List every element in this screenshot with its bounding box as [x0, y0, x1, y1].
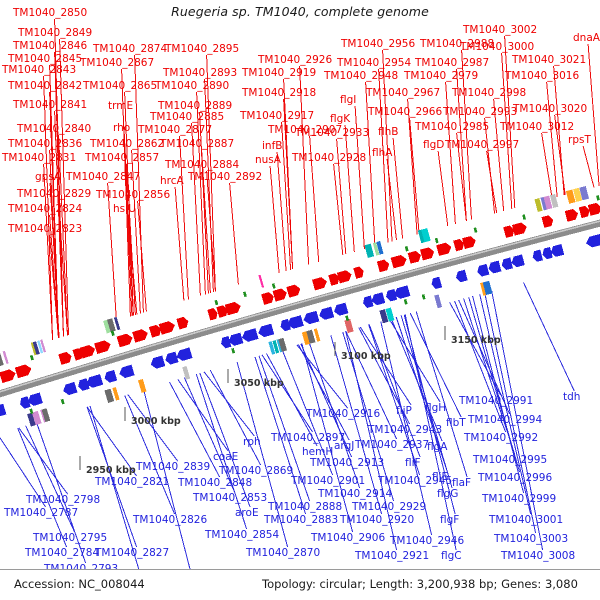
- reverse-gene-label[interactable]: TM1040_2921: [355, 551, 429, 562]
- forward-gene-label[interactable]: TM1040_2850: [13, 8, 87, 19]
- forward-gene-label[interactable]: TM1040_2933: [295, 128, 369, 139]
- forward-gene-label[interactable]: TM1040_2918: [242, 88, 316, 99]
- forward-gene-label[interactable]: TM1040_2917: [240, 111, 314, 122]
- reverse-gene-label[interactable]: TM1040_2795: [33, 533, 107, 544]
- reverse-gene-label[interactable]: aroE: [235, 508, 259, 519]
- forward-gene-label[interactable]: TM1040_2966: [368, 107, 442, 118]
- reverse-gene-label[interactable]: TM1040_2929: [352, 502, 426, 513]
- forward-gene-label[interactable]: TM1040_2847: [66, 172, 140, 183]
- reverse-gene-label[interactable]: TM1040_2994: [468, 415, 542, 426]
- scale-marker: 3150 kbp: [451, 336, 501, 347]
- forward-gene-label[interactable]: hsIU: [113, 204, 136, 215]
- reverse-gene-label[interactable]: TM1040_3008: [501, 551, 575, 562]
- forward-gene-label[interactable]: TM1040_2887: [160, 139, 234, 150]
- reverse-gene-label[interactable]: hemH: [302, 447, 333, 458]
- forward-gene-label[interactable]: TM1040_2967: [366, 88, 440, 99]
- reverse-gene-label[interactable]: flaF: [452, 478, 471, 489]
- forward-gene-label[interactable]: gpsA: [35, 172, 61, 183]
- forward-gene-label[interactable]: TM1040_2997: [445, 140, 519, 151]
- reverse-gene-label[interactable]: TM1040_2999: [482, 494, 556, 505]
- forward-gene-label[interactable]: TM1040_2956: [341, 39, 415, 50]
- reverse-gene-label[interactable]: TM1040_2946: [390, 536, 464, 547]
- reverse-gene-label[interactable]: TM1040_2784: [25, 548, 99, 559]
- forward-gene-label[interactable]: TM1040_2893: [163, 68, 237, 79]
- reverse-gene-label[interactable]: TM1040_2913: [310, 458, 384, 469]
- forward-gene-label[interactable]: TM1040_2877: [138, 125, 212, 136]
- reverse-gene-label[interactable]: fliF: [405, 458, 421, 469]
- forward-gene-label[interactable]: flgD: [423, 140, 444, 151]
- reverse-gene-label[interactable]: TM1040_2883: [264, 515, 338, 526]
- genome-viewer[interactable]: Ruegeria sp. TM1040, complete genome TM1…: [0, 0, 600, 600]
- reverse-gene-label[interactable]: TM1040_2901: [291, 476, 365, 487]
- forward-gene-label[interactable]: hrcA: [160, 176, 184, 187]
- reverse-gene-label[interactable]: TM1040_2870: [246, 548, 320, 559]
- reverse-gene-label[interactable]: TM1040_2827: [95, 548, 169, 559]
- reverse-gene-label[interactable]: TM1040_2945: [378, 476, 452, 487]
- reverse-gene-label[interactable]: TM1040_3001: [489, 515, 563, 526]
- reverse-gene-label[interactable]: TM1040_2937: [355, 440, 429, 451]
- reverse-gene-label[interactable]: TM1040_2920: [340, 515, 414, 526]
- forward-gene-label[interactable]: TM1040_2829: [17, 189, 91, 200]
- reverse-gene-label[interactable]: flgH: [425, 403, 446, 414]
- forward-gene-label[interactable]: TM1040_2884: [165, 160, 239, 171]
- forward-gene-label[interactable]: TM1040_2890: [155, 81, 229, 92]
- reverse-gene-label[interactable]: TM1040_2992: [464, 433, 538, 444]
- forward-gene-label[interactable]: TM1040_2843: [2, 65, 76, 76]
- reverse-gene-label[interactable]: TM1040_2821: [95, 477, 169, 488]
- forward-gene-label[interactable]: TM1040_3000: [460, 42, 534, 53]
- forward-gene-label[interactable]: TM1040_2867: [80, 58, 154, 69]
- reverse-gene-label[interactable]: TM1040_2787: [4, 508, 78, 519]
- reverse-gene-label[interactable]: TM1040_2897: [271, 433, 345, 444]
- forward-gene-label[interactable]: TM1040_2842: [8, 81, 82, 92]
- forward-gene-label[interactable]: TM1040_2889: [158, 101, 232, 112]
- reverse-gene-label[interactable]: tdh: [563, 392, 580, 403]
- forward-gene-label[interactable]: TM1040_2856: [96, 190, 170, 201]
- forward-gene-label[interactable]: TM1040_2895: [165, 44, 239, 55]
- accession-text: Accession: NC_008044: [14, 577, 145, 591]
- forward-gene-label[interactable]: TM1040_2845: [8, 54, 82, 65]
- reverse-gene-label[interactable]: TM1040_2848: [178, 478, 252, 489]
- forward-gene-label[interactable]: TM1040_2993: [443, 107, 517, 118]
- reverse-gene-label[interactable]: flgA: [427, 442, 447, 453]
- topology-text: Topology: circular; Length: 3,200,938 bp…: [262, 577, 578, 591]
- reverse-gene-label[interactable]: TM1040_2798: [26, 495, 100, 506]
- reverse-gene-label[interactable]: TM1040_2906: [311, 533, 385, 544]
- reverse-gene-label[interactable]: TM1040_2854: [205, 530, 279, 541]
- reverse-gene-label[interactable]: TM1040_2839: [136, 462, 210, 473]
- forward-gene-label[interactable]: TM1040_2948: [324, 71, 398, 82]
- forward-gene-label[interactable]: TM1040_2823: [8, 224, 82, 235]
- reverse-gene-label[interactable]: rph: [243, 437, 261, 448]
- forward-gene-label[interactable]: flhA: [372, 148, 392, 159]
- forward-gene-label[interactable]: TM1040_2928: [292, 153, 366, 164]
- reverse-gene-label[interactable]: TM1040_2888: [268, 502, 342, 513]
- reverse-gene-label[interactable]: TM1040_2996: [478, 473, 552, 484]
- forward-gene-label[interactable]: TM1040_2865: [83, 81, 157, 92]
- forward-gene-label[interactable]: TM1040_3021: [512, 55, 586, 66]
- forward-gene-label[interactable]: TM1040_2846: [13, 41, 87, 52]
- forward-gene-label[interactable]: TM1040_3012: [500, 122, 574, 133]
- forward-gene-label[interactable]: TM1040_2836: [8, 139, 82, 150]
- scale-marker: 2950 kbp: [86, 466, 136, 477]
- reverse-gene-label[interactable]: fliP: [396, 406, 412, 417]
- forward-gene-label[interactable]: TM1040_3016: [505, 71, 579, 82]
- reverse-gene-label[interactable]: TM1040_2943: [368, 425, 442, 436]
- forward-gene-label[interactable]: rho: [113, 123, 130, 134]
- reverse-gene-label[interactable]: TM1040_2826: [133, 515, 207, 526]
- forward-gene-label[interactable]: TM1040_2998: [452, 88, 526, 99]
- reverse-gene-label[interactable]: TM1040_2914: [318, 489, 392, 500]
- forward-gene-label[interactable]: TM1040_2926: [258, 55, 332, 66]
- forward-gene-label[interactable]: TM1040_2857: [85, 153, 159, 164]
- forward-gene-label[interactable]: TM1040_2979: [404, 71, 478, 82]
- forward-gene-label[interactable]: TM1040_2831: [2, 153, 76, 164]
- reverse-gene-label[interactable]: TM1040_2991: [459, 396, 533, 407]
- forward-gene-label[interactable]: trmE: [108, 101, 133, 112]
- forward-gene-label[interactable]: TM1040_2954: [337, 58, 411, 69]
- reverse-gene-label[interactable]: flgF: [440, 515, 459, 526]
- reverse-gene-label[interactable]: TM1040_2995: [473, 455, 547, 466]
- reverse-gene-label[interactable]: TM1040_2869: [219, 466, 293, 477]
- scale-marker: 3000 kbp: [131, 417, 181, 428]
- scale-marker: 3050 kbp: [234, 379, 284, 390]
- forward-gene-label[interactable]: TM1040_2862: [90, 139, 164, 150]
- forward-gene-label[interactable]: flgI: [340, 95, 356, 106]
- forward-gene-label[interactable]: TM1040_2840: [17, 124, 91, 135]
- forward-gene-label[interactable]: TM1040_2985: [415, 122, 489, 133]
- forward-gene-label[interactable]: TM1040_3020: [513, 104, 587, 115]
- reverse-gene-label[interactable]: TM1040_3003: [494, 534, 568, 545]
- forward-gene-label[interactable]: TM1040_3002: [463, 25, 537, 36]
- reverse-gene-label[interactable]: TM1040_2916: [306, 409, 380, 420]
- forward-gene-label[interactable]: TM1040_2919: [242, 68, 316, 79]
- reverse-gene-label[interactable]: coaE: [213, 452, 238, 463]
- forward-gene-label[interactable]: flhB: [378, 127, 398, 138]
- forward-gene-label[interactable]: TM1040_2892: [188, 172, 262, 183]
- reverse-gene-label[interactable]: flgC: [441, 551, 462, 562]
- forward-gene-label[interactable]: dnaA: [573, 33, 600, 44]
- forward-gene-label[interactable]: TM1040_2987: [415, 58, 489, 69]
- forward-gene-label[interactable]: flgK: [330, 114, 350, 125]
- forward-gene-label[interactable]: nusA: [255, 155, 281, 166]
- reverse-gene-label[interactable]: TM1040_2853: [193, 493, 267, 504]
- forward-gene-label[interactable]: TM1040_2874: [93, 44, 167, 55]
- forward-gene-label[interactable]: infB: [262, 141, 282, 152]
- forward-gene-label[interactable]: TM1040_2824: [8, 204, 82, 215]
- forward-gene-label[interactable]: TM1040_2841: [13, 100, 87, 111]
- scale-marker: 3100 kbp: [341, 352, 391, 363]
- forward-gene-label[interactable]: TM1040_2885: [150, 112, 224, 123]
- reverse-gene-label[interactable]: flbT: [446, 418, 466, 429]
- forward-gene-label[interactable]: TM1040_2849: [18, 28, 92, 39]
- forward-gene-label[interactable]: rpsT: [568, 135, 591, 146]
- reverse-gene-label[interactable]: flgG: [437, 489, 458, 500]
- status-bar: Accession: NC_008044 Topology: circular;…: [0, 569, 600, 600]
